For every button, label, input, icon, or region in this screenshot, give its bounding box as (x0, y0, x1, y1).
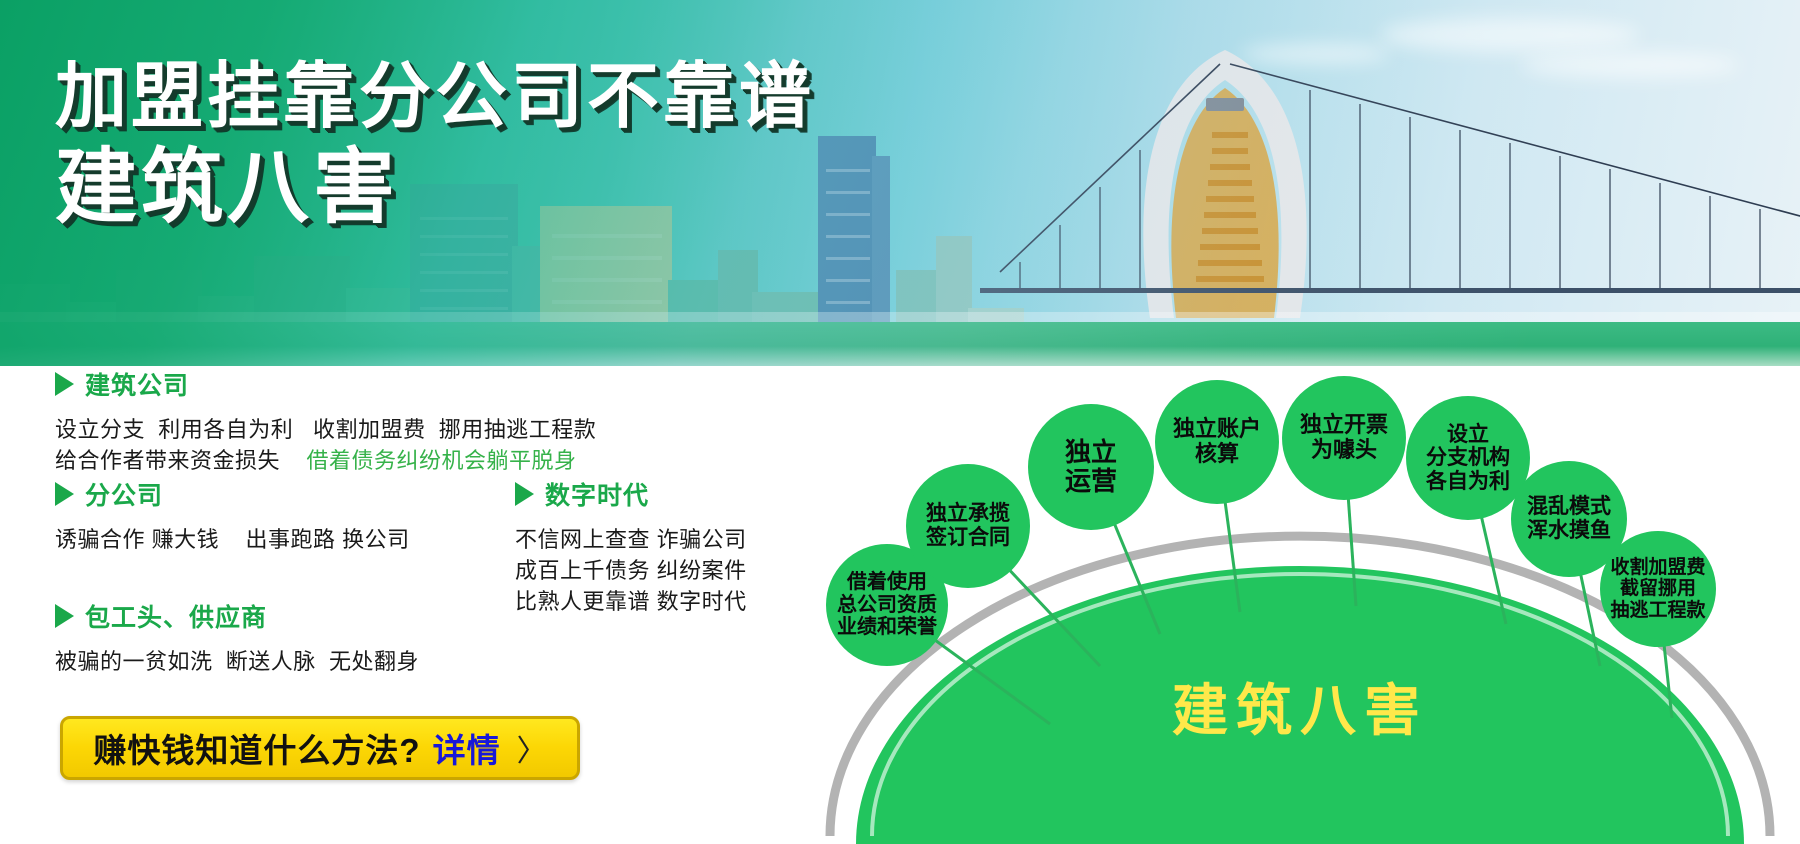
hero-title-group: 加盟挂靠分公司不靠谱 建筑八害 (55, 58, 815, 232)
hero-title-line2: 建筑八害 (55, 144, 815, 233)
section-header: 建筑公司 (55, 366, 755, 402)
chevron-right-icon: 〉 (517, 726, 547, 770)
dome-label: 建筑八害 (800, 666, 1800, 747)
bubble-label: 借着使用 总公司资质 业绩和荣誉 (837, 571, 937, 638)
triangle-bullet-icon (515, 482, 534, 506)
bubble-item[interactable]: 设立 分支机构 各自为利 (1406, 396, 1530, 520)
bubble-label: 独立账户 核算 (1173, 417, 1261, 466)
section-branch-company: 分公司 诱骗合作 赚大钱 出事跑路 换公司 (55, 476, 525, 555)
section-digital-era: 数字时代 不信网上查查 诈骗公司 成百上千债务 纠纷案件 比熟人更靠谱 数字时代 (515, 476, 815, 618)
bubble-label: 独立开票 为噱头 (1300, 413, 1388, 462)
bubble-item[interactable]: 独立开票 为噱头 (1282, 376, 1406, 500)
highlight-text: 借着债务纠纷机会躺平脱身 (306, 448, 576, 473)
bubble-item[interactable]: 独立账户 核算 (1155, 380, 1279, 504)
section-title: 分公司 (85, 476, 163, 512)
cta-button[interactable]: 赚快钱知道什么方法? 详情 〉 (60, 716, 580, 780)
bubble-label: 收割加盟费 截留挪用 抽逃工程款 (1610, 557, 1705, 621)
section-construction-company: 建筑公司 设立分支 利用各自为利 收割加盟费 挪用抽逃工程款 给合作者带来资金损… (55, 366, 755, 476)
bubble-label: 独立 运营 (1065, 438, 1117, 496)
bubble-item[interactable]: 独立承揽 签订合同 (906, 464, 1030, 588)
cta-detail-link[interactable]: 详情 (433, 724, 501, 772)
bubble-item[interactable]: 收割加盟费 截留挪用 抽逃工程款 (1600, 531, 1716, 647)
hero-banner: 加盟挂靠分公司不靠谱 建筑八害 (0, 0, 1800, 366)
bubble-diagram: 建筑八害 借着使用 总公司资质 业绩和荣誉 独立承揽 签订合同 独立 运营 独立… (800, 366, 1800, 844)
section-header: 分公司 (55, 476, 525, 512)
section-line: 设立分支 利用各自为利 收割加盟费 挪用抽逃工程款 (55, 414, 755, 445)
bubble-label: 混乱模式 浑水摸鱼 (1527, 495, 1611, 542)
cta-label: 赚快钱知道什么方法? (93, 724, 420, 772)
triangle-bullet-icon (55, 482, 74, 506)
bubble-label: 设立 分支机构 各自为利 (1426, 423, 1510, 494)
section-title: 包工头、供应商 (85, 598, 267, 634)
bubble-label: 独立承揽 签订合同 (926, 502, 1010, 549)
section-line: 被骗的一贫如洗 断送人脉 无处翻身 (55, 646, 675, 677)
section-title: 建筑公司 (85, 366, 189, 402)
hero-title-line1: 加盟挂靠分公司不靠谱 (55, 58, 815, 136)
section-line: 成百上千债务 纠纷案件 (515, 555, 815, 586)
section-title: 数字时代 (545, 476, 649, 512)
triangle-bullet-icon (55, 604, 74, 628)
section-contractor-supplier: 包工头、供应商 被骗的一贫如洗 断送人脉 无处翻身 (55, 598, 675, 677)
section-line: 诱骗合作 赚大钱 出事跑路 换公司 (55, 524, 525, 555)
triangle-bullet-icon (55, 372, 74, 396)
main-content: 建筑公司 设立分支 利用各自为利 收割加盟费 挪用抽逃工程款 给合作者带来资金损… (0, 366, 1800, 844)
section-line: 给合作者带来资金损失 借着债务纠纷机会躺平脱身 (55, 445, 755, 476)
bubble-item[interactable]: 独立 运营 (1028, 404, 1154, 530)
section-header: 数字时代 (515, 476, 815, 512)
section-line: 不信网上查查 诈骗公司 (515, 524, 815, 555)
section-header: 包工头、供应商 (55, 598, 675, 634)
